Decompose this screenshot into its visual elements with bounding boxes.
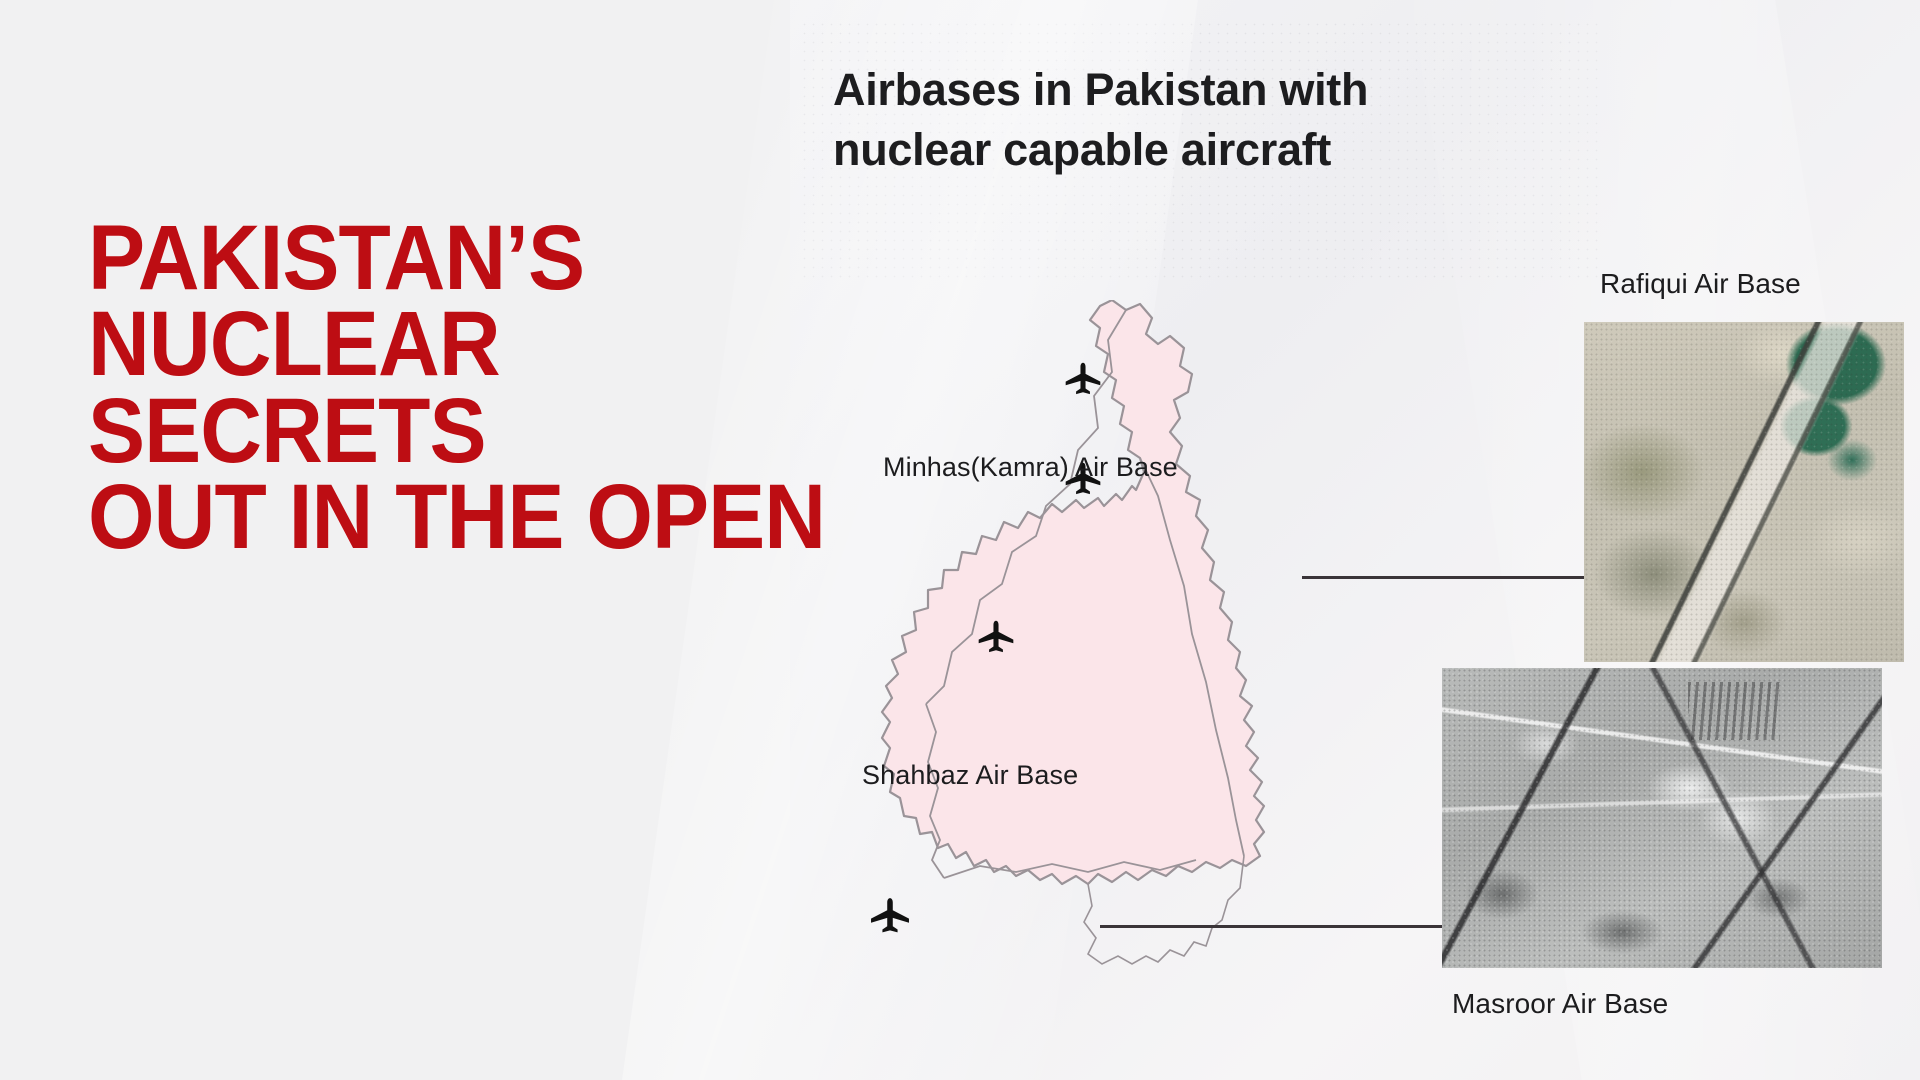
- airplane-icon-shahbaz[interactable]: [975, 618, 1017, 660]
- photo-grain-overlay-masroor: [1442, 668, 1882, 968]
- photo-grain-overlay-rafiqui: [1584, 322, 1904, 662]
- page-title-line-1: PAKISTAN’S: [88, 215, 1130, 301]
- map-label-minhas: Minhas(Kamra) Air Base: [883, 452, 1178, 483]
- airplane-icon-masroor[interactable]: [867, 895, 913, 941]
- pakistan-map: [840, 300, 1480, 1000]
- map-label-shahbaz: Shahbaz Air Base: [862, 760, 1078, 791]
- map-caption-line-1: Airbases in Pakistan with: [833, 64, 1368, 115]
- airplane-icon-minhas[interactable]: [1062, 360, 1104, 402]
- connector-line-masroor: [1100, 925, 1444, 928]
- satellite-photo-rafiqui[interactable]: [1584, 322, 1904, 662]
- photo-caption-masroor: Masroor Air Base: [1452, 988, 1668, 1020]
- map-caption-line-2: nuclear capable aircraft: [833, 120, 1653, 180]
- connector-line-rafiqui: [1302, 576, 1586, 579]
- photo-caption-rafiqui: Rafiqui Air Base: [1600, 268, 1801, 300]
- photo-hangar-rows-masroor: [1688, 682, 1780, 740]
- map-caption: Airbases in Pakistan with nuclear capabl…: [833, 60, 1653, 180]
- satellite-photo-masroor[interactable]: [1442, 668, 1882, 968]
- infographic-stage: Airbases in Pakistan with nuclear capabl…: [0, 0, 1920, 1080]
- pakistan-map-outline: [840, 300, 1480, 1000]
